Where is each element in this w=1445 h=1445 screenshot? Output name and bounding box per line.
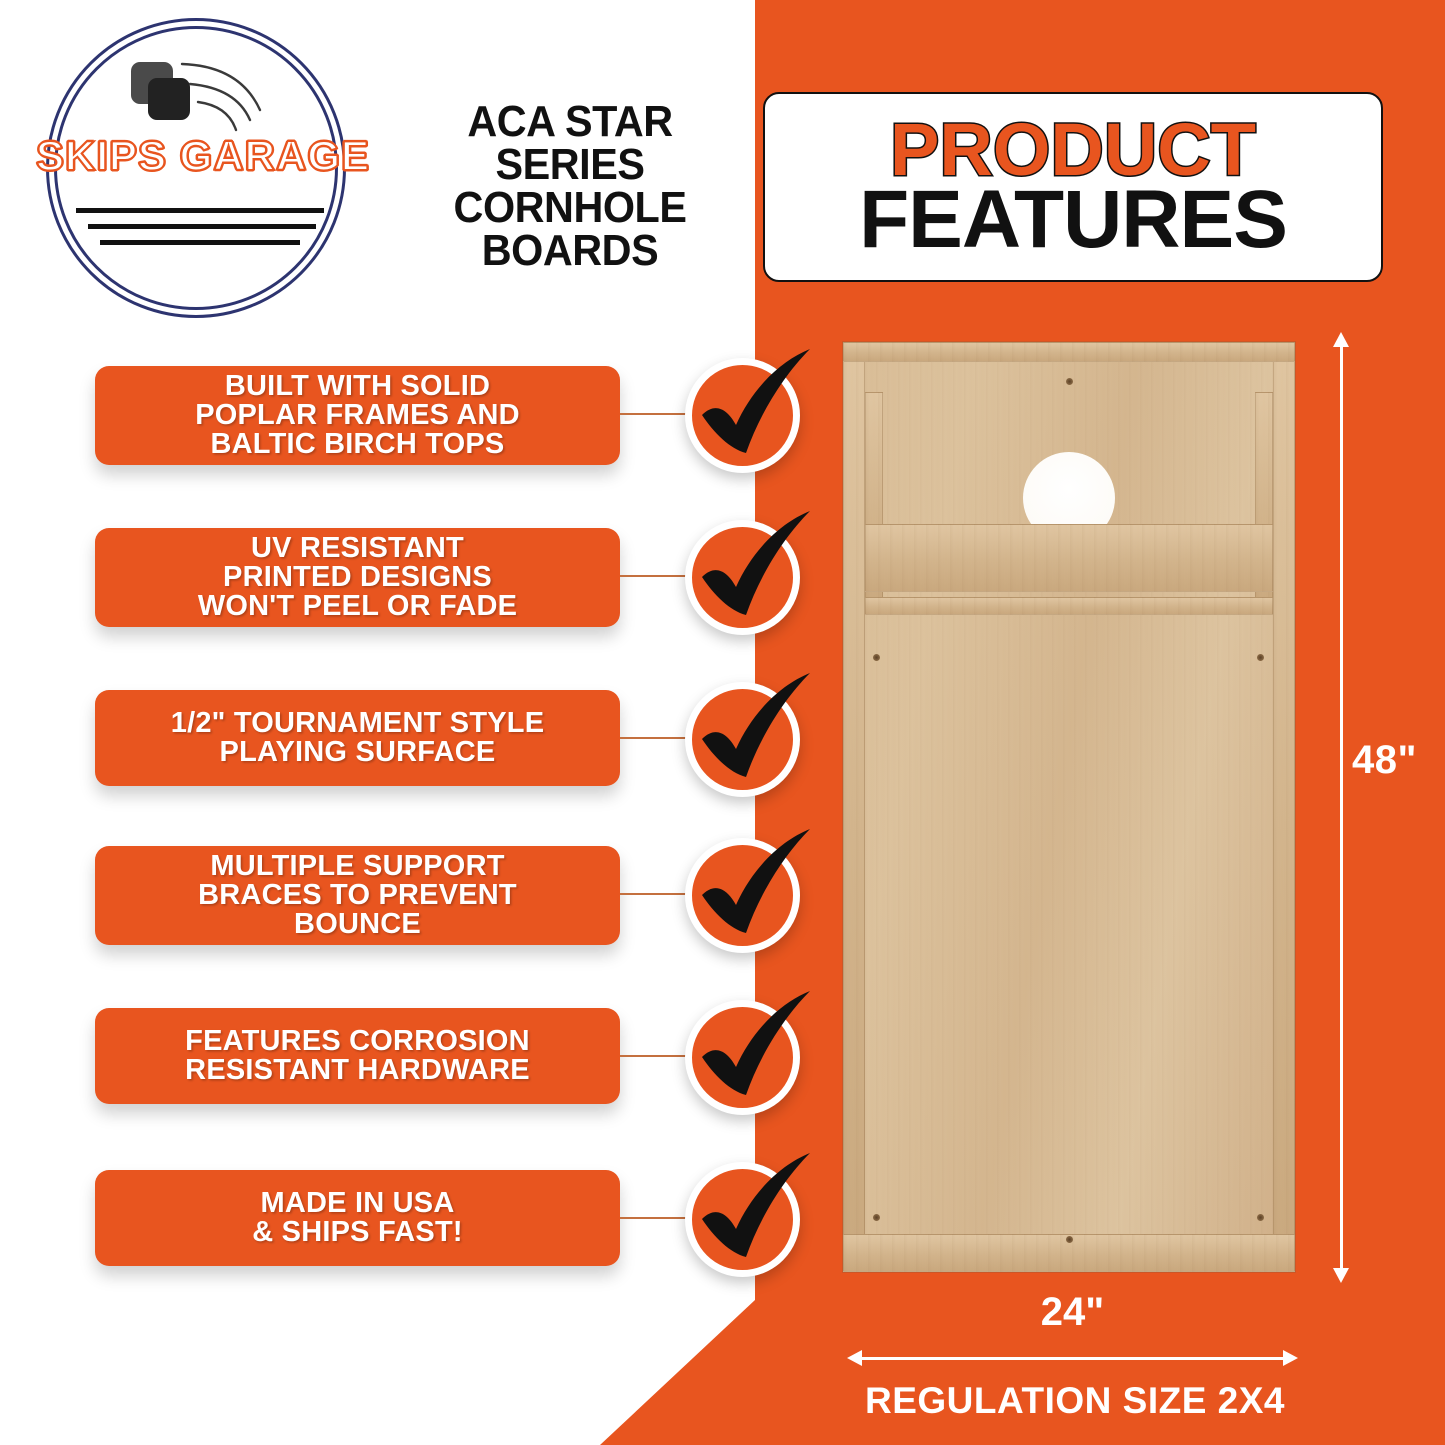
feature-check-badge — [680, 515, 805, 640]
feature-check-badge — [680, 833, 805, 958]
feature-check-badge — [680, 677, 805, 802]
feature-label: 1/2" TOURNAMENT STYLE PLAYING SURFACE — [171, 709, 545, 767]
screw-hole — [1066, 378, 1073, 385]
check-icon — [680, 503, 820, 643]
feature-row: 1/2" TOURNAMENT STYLE PLAYING SURFACE — [95, 682, 830, 812]
check-icon — [680, 821, 820, 961]
feature-pill: BUILT WITH SOLID POPLAR FRAMES AND BALTI… — [95, 366, 620, 465]
screw-hole — [1066, 1236, 1073, 1243]
width-dimension-label: 24" — [860, 1290, 1285, 1335]
feature-row: MULTIPLE SUPPORT BRACES TO PREVENT BOUNC… — [95, 838, 830, 968]
feature-pill: MULTIPLE SUPPORT BRACES TO PREVENT BOUNC… — [95, 846, 620, 945]
logo-bar-1 — [76, 208, 324, 213]
feature-check-badge — [680, 995, 805, 1120]
check-icon — [680, 983, 820, 1123]
frame-rail-left — [843, 342, 865, 1272]
height-dimension-label: 48" — [1352, 738, 1417, 783]
feature-check-badge — [680, 353, 805, 478]
screw-hole — [1257, 1214, 1264, 1221]
feature-pill: 1/2" TOURNAMENT STYLE PLAYING SURFACE — [95, 690, 620, 786]
logo-bar-3 — [100, 240, 300, 245]
height-dimension-arrow — [1340, 345, 1343, 1270]
motion-lines-icon — [178, 58, 288, 138]
product-features-header: PRODUCT FEATURES — [763, 92, 1383, 282]
feature-pill: UV RESISTANT PRINTED DESIGNS WON'T PEEL … — [95, 528, 620, 627]
feature-label: MADE IN USA & SHIPS FAST! — [252, 1189, 462, 1247]
feature-label: BUILT WITH SOLID POPLAR FRAMES AND BALTI… — [195, 372, 520, 459]
frame-rail-top — [843, 342, 1295, 362]
check-icon — [680, 1145, 820, 1285]
check-icon — [680, 665, 820, 805]
width-dimension-arrow — [860, 1357, 1285, 1360]
feature-label: UV RESISTANT PRINTED DESIGNS WON'T PEEL … — [198, 534, 517, 621]
support-brace-upper — [865, 524, 1273, 592]
infographic-page: SKIPS GARAGE ACA STAR SERIES CORNHOLE BO… — [0, 0, 1445, 1445]
feature-pill: MADE IN USA & SHIPS FAST! — [95, 1170, 620, 1266]
feature-label: MULTIPLE SUPPORT BRACES TO PREVENT BOUNC… — [198, 852, 517, 939]
header-line-features: FEATURES — [859, 181, 1287, 260]
cornhole-board-image — [843, 342, 1295, 1272]
feature-row: UV RESISTANT PRINTED DESIGNS WON'T PEEL … — [95, 520, 830, 650]
logo-wordmark: SKIPS GARAGE — [28, 132, 378, 180]
brand-logo: SKIPS GARAGE — [28, 10, 378, 320]
logo-bar-2 — [88, 224, 316, 229]
screw-hole — [1257, 654, 1264, 661]
feature-row: BUILT WITH SOLID POPLAR FRAMES AND BALTI… — [95, 358, 830, 488]
check-icon — [680, 341, 820, 481]
feature-pill: FEATURES CORROSION RESISTANT HARDWARE — [95, 1008, 620, 1104]
page-title: ACA STAR SERIES CORNHOLE BOARDS — [406, 100, 735, 272]
screw-hole — [873, 654, 880, 661]
support-brace-lower — [865, 597, 1273, 615]
feature-check-badge — [680, 1157, 805, 1282]
regulation-size-note: REGULATION SIZE 2X4 — [810, 1380, 1340, 1422]
feature-row: FEATURES CORROSION RESISTANT HARDWARE — [95, 1000, 830, 1130]
feature-label: FEATURES CORROSION RESISTANT HARDWARE — [185, 1027, 530, 1085]
frame-rail-right — [1273, 342, 1295, 1272]
feature-row: MADE IN USA & SHIPS FAST! — [95, 1162, 830, 1292]
screw-hole — [873, 1214, 880, 1221]
